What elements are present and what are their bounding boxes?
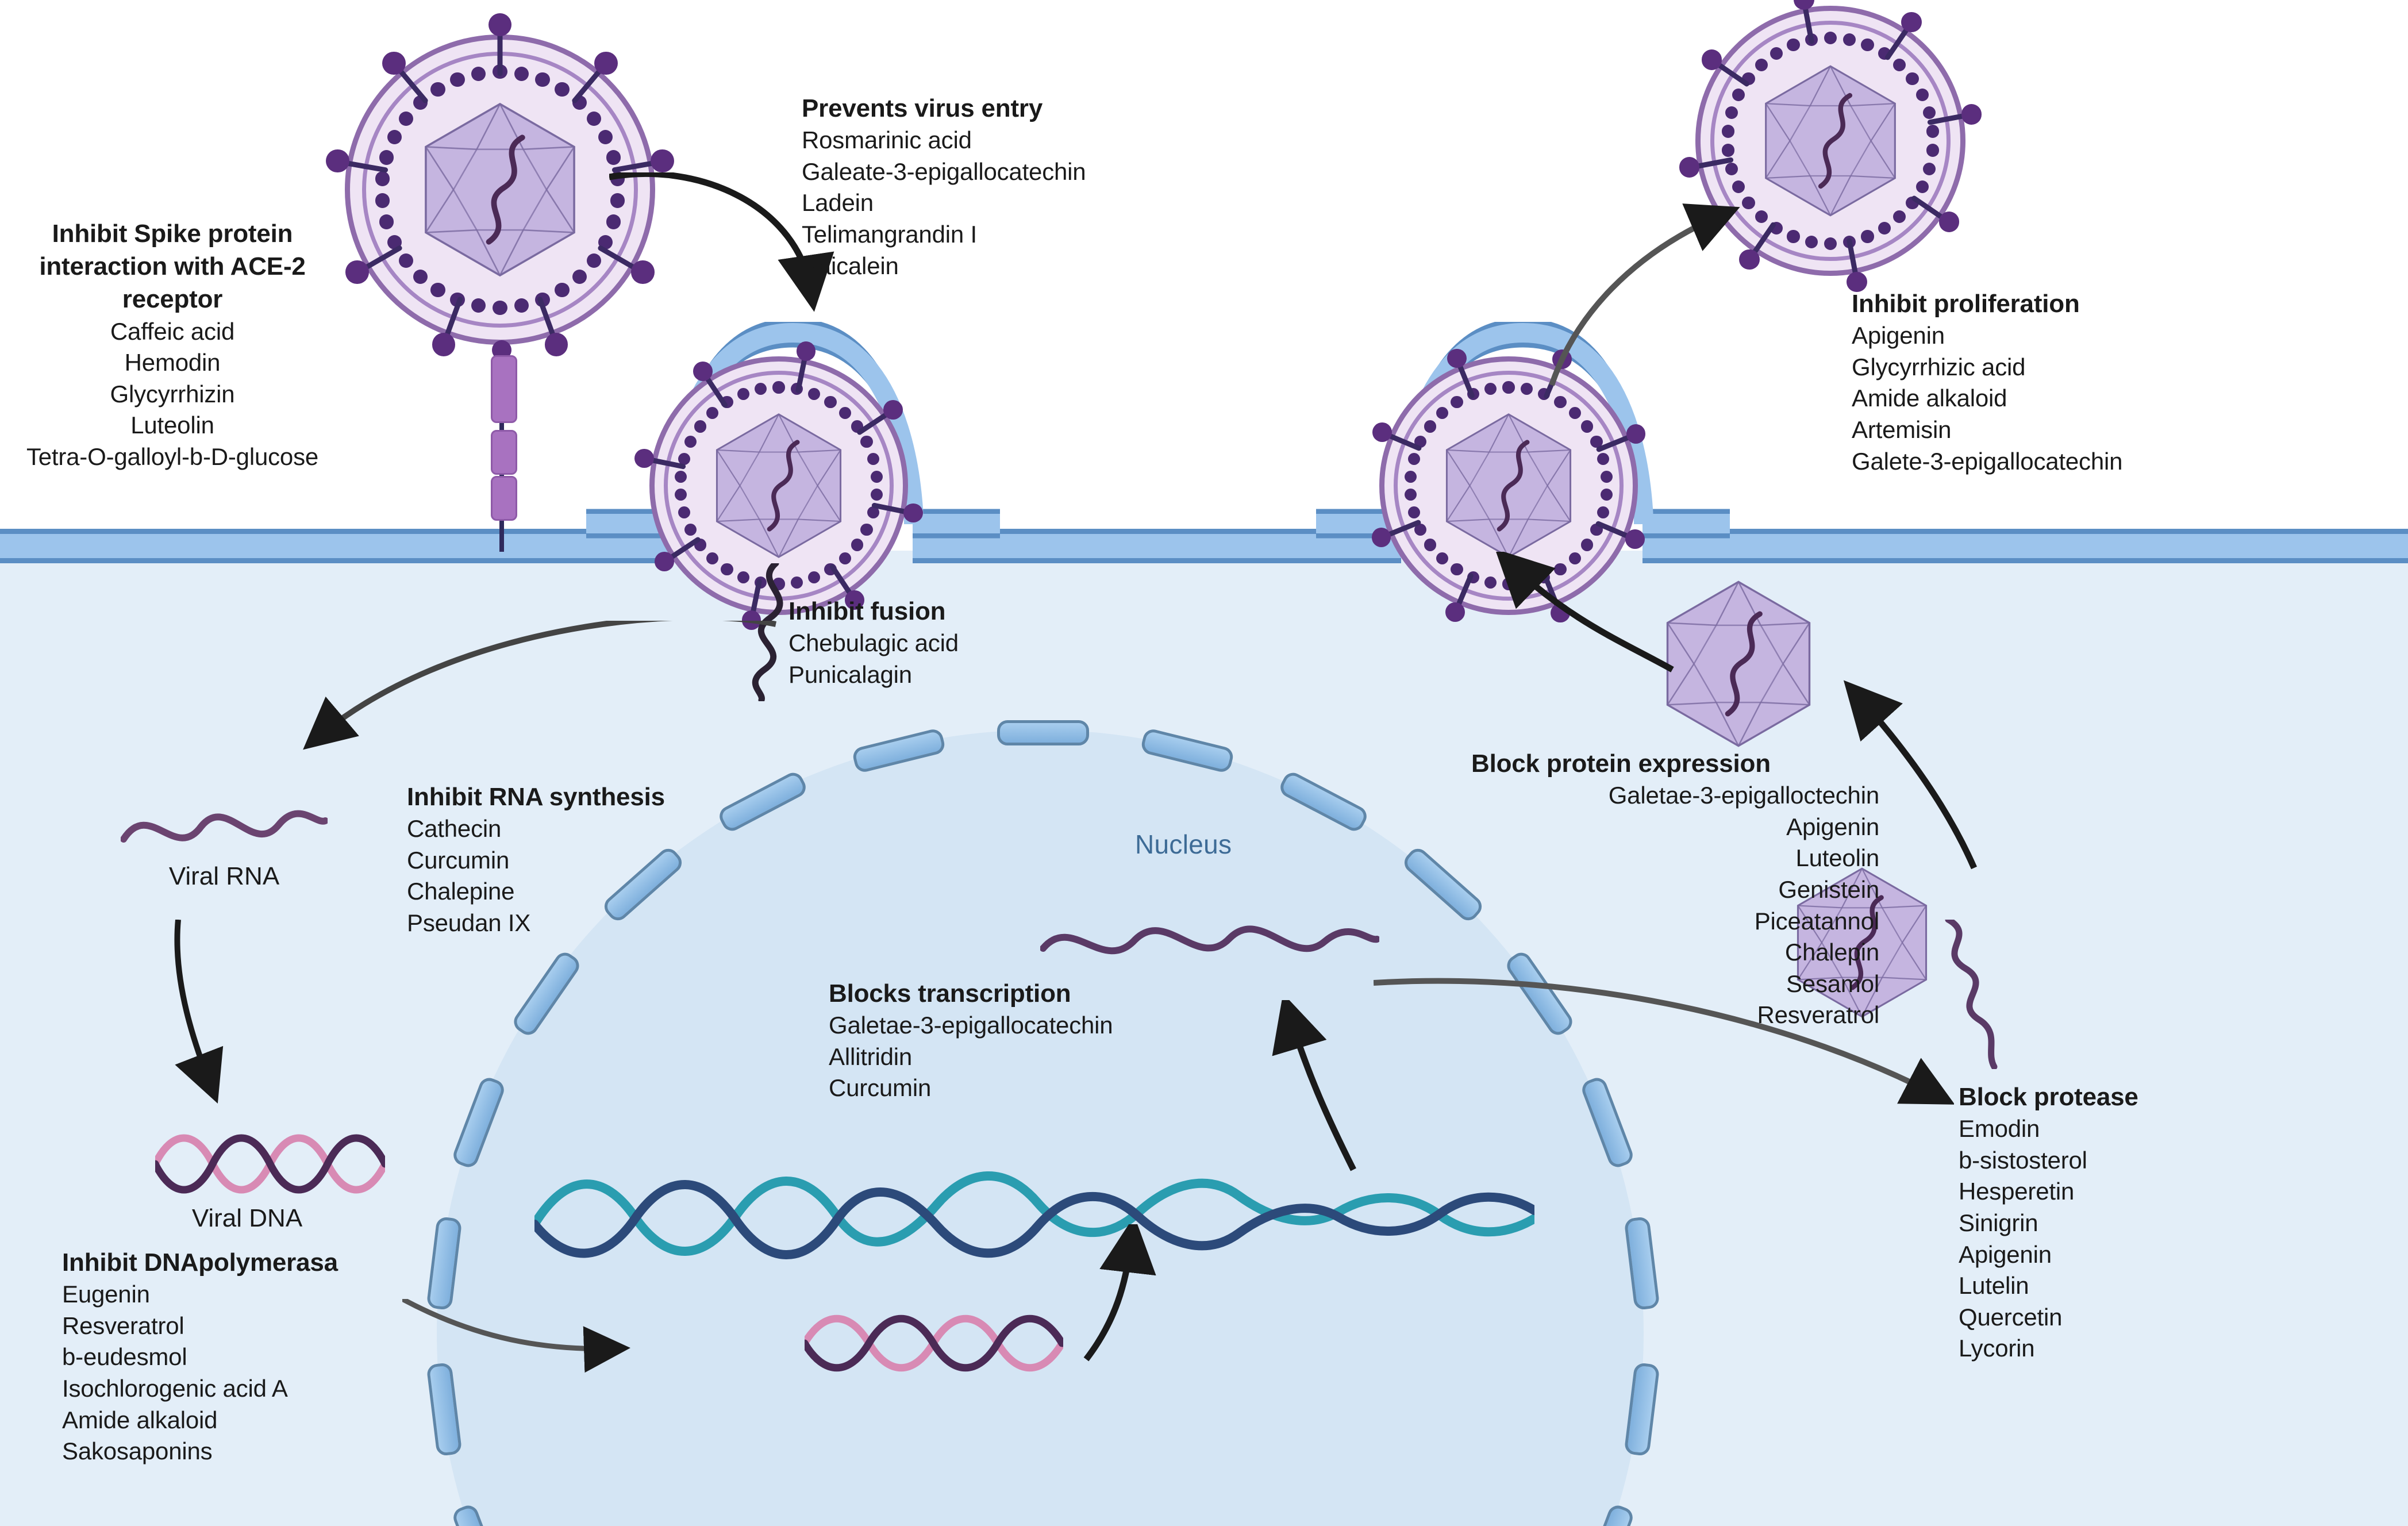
block-item: Sakosaponins xyxy=(62,1436,464,1467)
spike-protein-head xyxy=(345,260,369,284)
block-item: Ladein xyxy=(802,187,1215,219)
block-heading: Inhibit DNApolymerasa xyxy=(62,1246,464,1279)
viral-capsid xyxy=(1749,60,1911,222)
block-item: Lutelin xyxy=(1959,1270,2315,1302)
block-item: Tetra-O-galloyl-b-D-glucose xyxy=(11,441,333,473)
block-item: Apigenin xyxy=(1471,812,1879,843)
spike-protein-head xyxy=(1739,249,1759,270)
spike-protein-head xyxy=(1939,212,1959,232)
block-item: Amide alkaloid xyxy=(62,1405,464,1436)
block-item: Galetae-3-epigallocatechin xyxy=(829,1010,1288,1041)
block-item: Eugenin xyxy=(62,1279,464,1310)
block-item: Glycyrrhizic acid xyxy=(1852,352,2254,383)
block-item: Galeate-3-epigallocatechin xyxy=(802,156,1215,188)
block-inhibit-proliferation: Inhibit proliferation Apigenin Glycyrrhi… xyxy=(1852,287,2254,477)
block-item: Quercetin xyxy=(1959,1302,2315,1333)
block-heading: Block protease xyxy=(1959,1081,2315,1113)
virion-free-extracellular xyxy=(345,34,655,345)
spike-protein-head xyxy=(1625,529,1645,549)
block-item: Hemodin xyxy=(11,347,333,379)
block-item: b-sistosterol xyxy=(1959,1145,2315,1177)
block-inhibit-rna-synthesis: Inhibit RNA synthesis Cathecin Curcumin … xyxy=(407,781,763,939)
block-item: Resveratrol xyxy=(1471,1000,1879,1031)
viral-rna-label: Viral RNA xyxy=(115,862,333,891)
block-heading: Prevents virus entry xyxy=(802,92,1215,125)
block-item: b-eudesmol xyxy=(62,1342,464,1373)
spike-protein-head xyxy=(1445,602,1465,622)
block-item: Cathecin xyxy=(407,813,763,845)
block-heading: Inhibit Spike protein interaction with A… xyxy=(11,217,333,316)
arrow-integration xyxy=(1052,1224,1161,1362)
spike-protein-head xyxy=(1447,349,1467,368)
block-inhibit-dna-polymerase: Inhibit DNApolymerasa Eugenin Resveratro… xyxy=(62,1246,464,1467)
spike-protein-head xyxy=(1626,424,1646,444)
ace2-receptor xyxy=(482,345,522,552)
block-item: Rosmarinic acid xyxy=(802,125,1215,156)
block-item: Punicalagin xyxy=(788,659,1087,691)
viral-dna-label: Viral DNA xyxy=(132,1204,362,1233)
spike-protein-head xyxy=(1961,104,1982,124)
block-inhibit-spike-ace2: Inhibit Spike protein interaction with A… xyxy=(11,217,333,473)
block-item: Emodin xyxy=(1959,1113,2315,1145)
arrow-uncoating-to-cytoplasm xyxy=(276,621,782,776)
spike-protein-head xyxy=(634,449,654,468)
ace2-segment xyxy=(491,430,517,475)
spike-protein-head xyxy=(655,552,674,571)
spike-protein-head xyxy=(1702,49,1722,70)
spike-protein-head xyxy=(1372,528,1391,547)
block-blocks-transcription: Blocks transcription Galetae-3-epigalloc… xyxy=(829,977,1288,1104)
block-item: Artemisin xyxy=(1852,414,2254,446)
block-item: Chebulagic acid xyxy=(788,628,1087,659)
diagram-canvas: Nucleus Viral RNA Viral DNA xyxy=(0,0,2408,1526)
block-block-protein-expression: Block protein expression Galetae-3-epiga… xyxy=(1471,747,1879,1031)
block-item: Lycorin xyxy=(1959,1333,2315,1364)
block-block-protease: Block protease Emodin b-sistosterol Hesp… xyxy=(1959,1081,2315,1364)
block-item: Sinigrin xyxy=(1959,1208,2315,1239)
arrow-rna-to-dna xyxy=(167,920,259,1109)
block-item: Telimangrandin I xyxy=(802,219,1215,251)
arrow-capsid-to-budding xyxy=(1488,552,1678,678)
block-heading: Inhibit fusion xyxy=(788,595,1087,628)
block-item: Luteolin xyxy=(1471,843,1879,874)
block-item: Pseudan IX xyxy=(407,908,763,939)
spike-protein-head xyxy=(651,149,674,173)
spike-protein-head xyxy=(1901,12,1921,32)
spike-protein-head xyxy=(1679,157,1699,177)
viral-dna-helix xyxy=(155,1129,385,1198)
block-item: Genistein xyxy=(1471,874,1879,906)
block-item: Sesamol xyxy=(1471,968,1879,1000)
block-item: Curcumin xyxy=(407,845,763,877)
mrna-transcript xyxy=(1040,914,1379,977)
spike-protein-head xyxy=(883,400,903,420)
spike-protein-head xyxy=(594,52,618,75)
block-item: Allitridin xyxy=(829,1041,1288,1073)
ace2-segment xyxy=(491,355,517,423)
viral-rna-squiggle xyxy=(121,799,328,868)
block-heading: Blocks transcription xyxy=(829,977,1288,1010)
block-item: Hesperetin xyxy=(1959,1176,2315,1208)
nuclear-pore xyxy=(997,720,1089,745)
block-prevents-virus-entry: Prevents virus entry Rosmarinic acid Gal… xyxy=(802,92,1215,282)
spike-protein-head xyxy=(382,52,406,75)
spike-protein-head xyxy=(693,362,713,381)
spike-protein-head xyxy=(326,149,349,173)
viral-capsid xyxy=(1431,408,1586,563)
block-item: Chalepin xyxy=(1471,937,1879,968)
block-item: Isochlorogenic acid A xyxy=(62,1373,464,1405)
block-item: Luteolin xyxy=(11,410,333,441)
block-item: Galete-3-epigallocatechin xyxy=(1852,446,2254,478)
block-item: Galetae-3-epigalloctechin xyxy=(1471,780,1879,812)
block-item: Amide alkaloid xyxy=(1852,383,2254,414)
block-item: Resveratrol xyxy=(62,1310,464,1342)
spike-protein-head xyxy=(545,333,568,356)
block-item: Apigenin xyxy=(1852,320,2254,352)
viral-capsid xyxy=(407,97,593,283)
block-item: Baicalein xyxy=(802,251,1215,282)
block-item: Caffeic acid xyxy=(11,316,333,348)
block-heading: Inhibit RNA synthesis xyxy=(407,781,763,813)
plasma-membrane xyxy=(0,529,2408,563)
block-inhibit-fusion: Inhibit fusion Chebulagic acid Punicalag… xyxy=(788,595,1087,690)
block-heading: Block protein expression xyxy=(1471,747,1879,780)
block-item: Piceatannol xyxy=(1471,906,1879,937)
block-item: Curcumin xyxy=(829,1073,1288,1104)
ace2-segment xyxy=(491,476,517,521)
block-item: Chalepine xyxy=(407,876,763,908)
block-item: Glycyrrhizin xyxy=(11,379,333,410)
block-heading: Inhibit proliferation xyxy=(1852,287,2254,320)
arrow-budding-to-release xyxy=(1540,201,1741,391)
spike-protein-head xyxy=(1372,422,1392,442)
nucleus-label: Nucleus xyxy=(1135,829,1232,860)
block-item: Apigenin xyxy=(1959,1239,2315,1271)
spike-protein-head xyxy=(432,333,456,356)
spike-protein-head xyxy=(797,341,816,361)
viral-dna-helix-integrating xyxy=(805,1310,1063,1377)
viral-capsid xyxy=(701,408,856,563)
